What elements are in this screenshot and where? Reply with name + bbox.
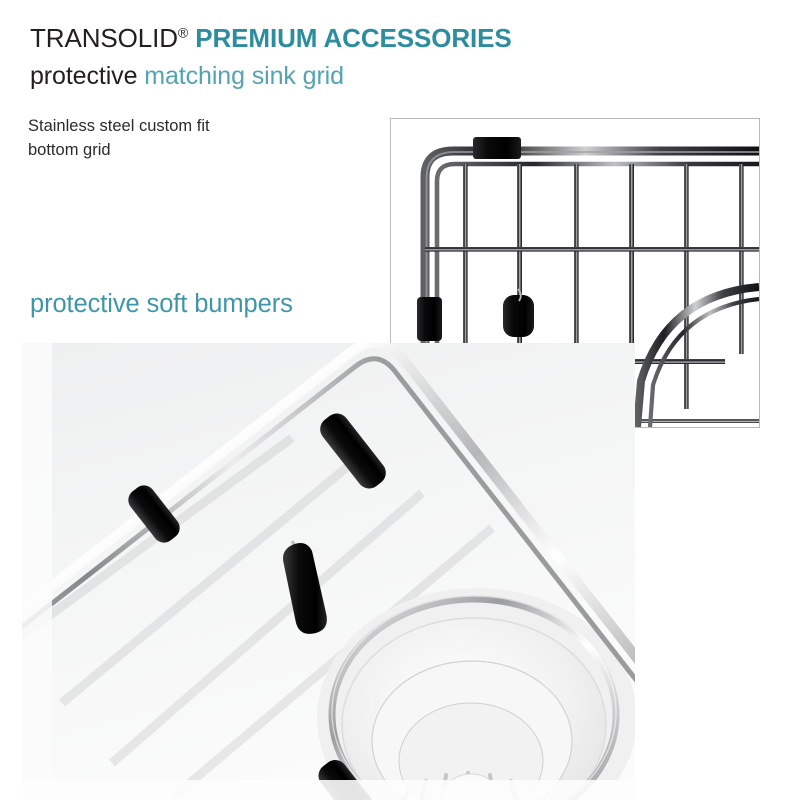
description-line-2: bottom grid xyxy=(28,138,358,162)
grid-angled-photo-panel xyxy=(22,343,635,800)
brand-text: TRANSOLID xyxy=(30,23,178,53)
page-subtitle: protective matching sink grid xyxy=(30,60,344,92)
brand-name: TRANSOLID® xyxy=(30,23,188,53)
subtitle-emphasis: matching sink grid xyxy=(144,62,344,90)
marketing-page: TRANSOLID® PREMIUM ACCESSORIES protectiv… xyxy=(0,0,800,800)
headline-emphasis: PREMIUM ACCESSORIES xyxy=(195,23,511,53)
page-title: TRANSOLID® PREMIUM ACCESSORIES xyxy=(30,22,512,54)
description-line-1: Stainless steel custom fit xyxy=(28,114,358,138)
sink-grid-angled-view-image xyxy=(22,343,635,800)
subtitle-lead: protective xyxy=(30,62,137,90)
registered-trademark-icon: ® xyxy=(178,24,188,40)
bumper-feature-heading: protective soft bumpers xyxy=(30,288,293,320)
product-description: Stainless steel custom fit bottom grid xyxy=(28,114,358,162)
